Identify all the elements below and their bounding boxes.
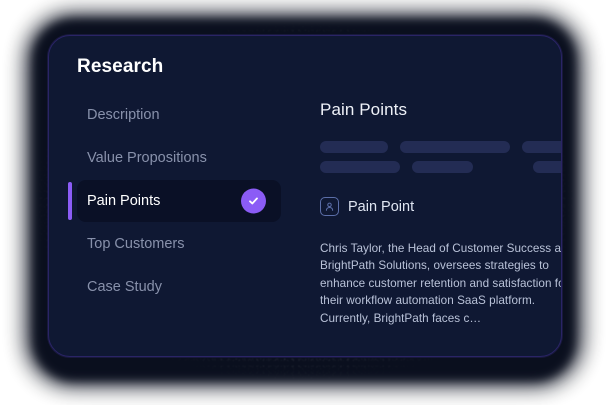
skeleton-pill <box>533 161 562 173</box>
check-circle-icon[interactable] <box>241 189 266 214</box>
screenshot-stage: Research Description Value Propositions … <box>0 0 608 405</box>
page-title: Research <box>77 56 163 78</box>
sidebar: Description Value Propositions Pain Poin… <box>49 94 271 308</box>
sidebar-item-description[interactable]: Description <box>49 94 271 136</box>
sidebar-item-value-propositions[interactable]: Value Propositions <box>49 137 271 179</box>
skeleton-row <box>320 161 562 173</box>
sidebar-item-case-study[interactable]: Case Study <box>49 266 271 308</box>
skeleton-pill <box>320 161 400 173</box>
sidebar-item-label: Top Customers <box>82 236 185 252</box>
pain-point-section-label: Pain Point <box>320 197 414 216</box>
pain-point-label-text: Pain Point <box>348 199 414 215</box>
skeleton-placeholder <box>320 141 562 173</box>
sidebar-item-label: Pain Points <box>82 193 160 209</box>
sidebar-item-label: Description <box>82 107 160 123</box>
pain-point-body-text: Chris Taylor, the Head of Customer Succe… <box>320 240 562 328</box>
skeleton-pill <box>400 141 510 153</box>
main-content: Pain Points <box>271 36 561 356</box>
skeleton-row <box>320 141 562 153</box>
sidebar-item-label: Value Propositions <box>82 150 207 166</box>
skeleton-pill <box>320 141 388 153</box>
sidebar-item-pain-points[interactable]: Pain Points <box>49 180 271 222</box>
skeleton-pill <box>522 141 562 153</box>
active-item-accent-bar <box>68 182 72 220</box>
content-heading: Pain Points <box>320 100 407 120</box>
sidebar-item-top-customers[interactable]: Top Customers <box>49 223 271 265</box>
skeleton-pill <box>412 161 473 173</box>
research-card: Research Description Value Propositions … <box>48 35 562 357</box>
sidebar-item-label: Case Study <box>82 279 162 295</box>
user-icon <box>320 197 339 216</box>
